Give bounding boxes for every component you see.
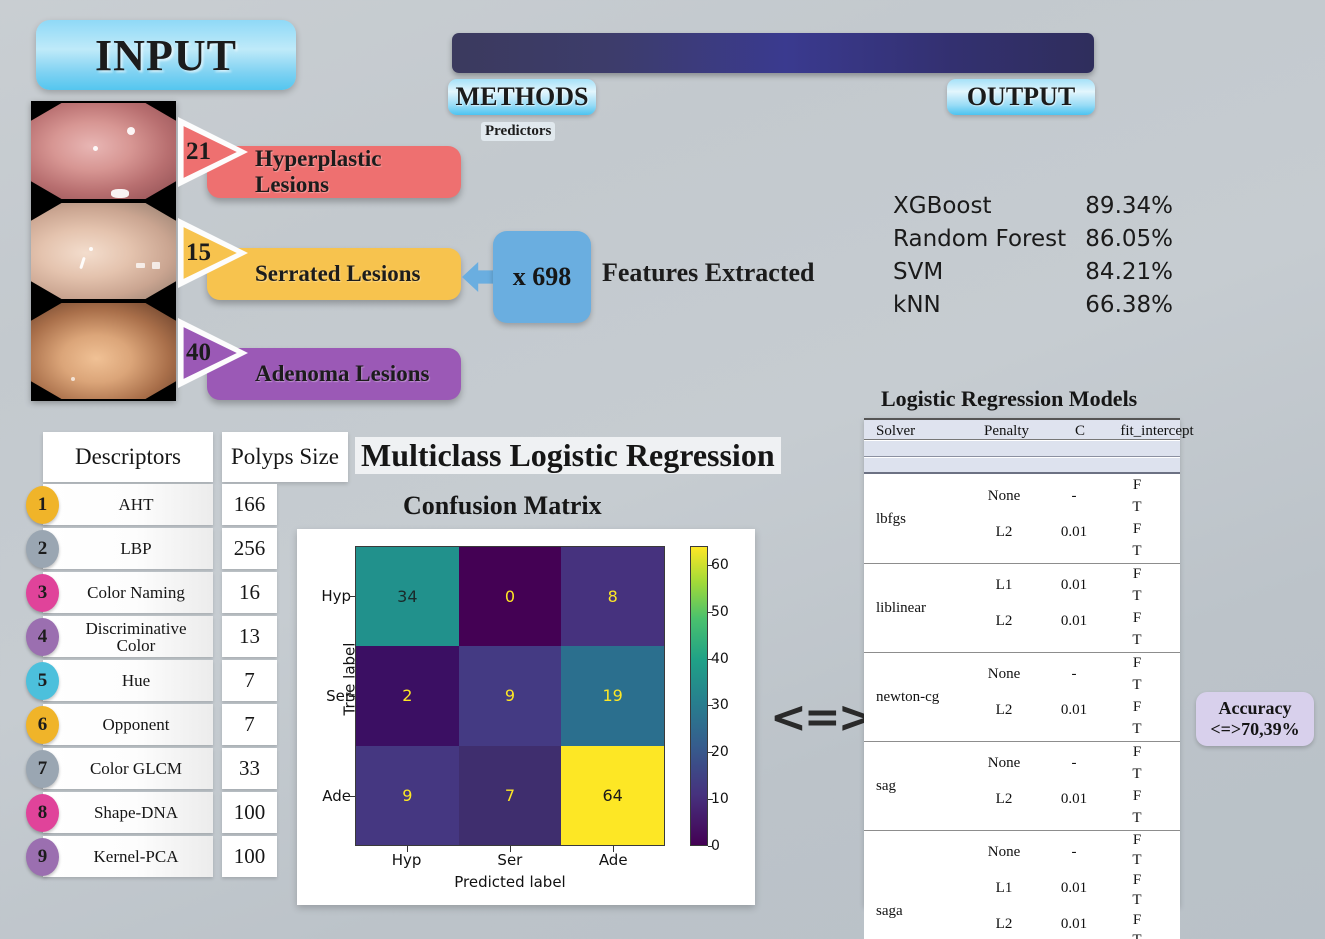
descriptor-index-badge: 8 (26, 794, 59, 832)
lr-c-value: - (1047, 755, 1101, 772)
colorbar-tick-label: 60 (711, 557, 729, 573)
lr-fit-intercept: T (1122, 810, 1152, 827)
descriptor-name: AHT (103, 496, 154, 513)
descriptor-name: DiscriminativeColor (69, 620, 186, 654)
descriptor-index-badge: 7 (26, 750, 59, 788)
methods-output-bar (452, 33, 1094, 73)
colorbar-tickmark (708, 565, 713, 566)
descriptors-header: Descriptors (43, 432, 213, 482)
descriptor-size: 13 (222, 616, 277, 657)
output-result-row: SVM84.21% (893, 256, 1173, 289)
endoscopy-image-hyperplastic (31, 101, 176, 201)
lr-c-value: 0.01 (1047, 880, 1101, 897)
lr-models-title: Logistic Regression Models (881, 386, 1137, 412)
output-result-row: kNN66.38% (893, 289, 1173, 322)
colorbar-tick-label: 10 (711, 791, 729, 807)
confusion-matrix-cell: 8 (561, 547, 664, 646)
colorbar-tick-label: 40 (711, 651, 729, 667)
lr-c-value: 0.01 (1047, 791, 1101, 808)
lesion-count-badge-adenoma: 40 (178, 318, 248, 388)
confusion-matrix-x-tick: Hyp (355, 851, 459, 869)
lr-c-value: - (1047, 844, 1101, 861)
predictors-label: Predictors (481, 122, 555, 141)
lr-fit-intercept: F (1122, 872, 1152, 889)
lr-penalty: L2 (959, 916, 1049, 933)
confusion-matrix-cell: 2 (356, 646, 459, 745)
output-tag-label: OUTPUT (967, 82, 1075, 112)
confusion-matrix-y-tickmark (349, 796, 355, 797)
lr-fit-intercept: T (1122, 852, 1152, 869)
lr-table-blank-row-1 (864, 441, 1180, 457)
output-result-row: Random Forest86.05% (893, 223, 1173, 256)
lr-fit-intercept: F (1122, 477, 1152, 494)
lr-c-value: - (1047, 488, 1101, 505)
descriptor-size: 7 (222, 704, 277, 745)
output-result-accuracy: 86.05% (1085, 223, 1173, 256)
output-tag: OUTPUT (947, 79, 1095, 115)
output-result-model: SVM (893, 256, 943, 289)
feature-multiplier-label: x 698 (513, 262, 572, 292)
lr-c-value: 0.01 (1047, 577, 1101, 594)
descriptor-size-value: 16 (239, 580, 260, 605)
descriptor-row: Opponent (43, 704, 213, 745)
lr-fit-intercept: F (1122, 832, 1152, 849)
output-results-list: XGBoost89.34%Random Forest86.05%SVM84.21… (893, 190, 1173, 322)
confusion-matrix-ylabel: True label (340, 643, 358, 716)
lr-penalty: None (959, 844, 1049, 861)
lr-table-group: lbfgsNone-L20.01FTFT (864, 476, 1180, 564)
lr-fit-intercept: T (1122, 677, 1152, 694)
lesion-count-hyperplastic: 21 (186, 138, 211, 166)
lr-c-value: 0.01 (1047, 613, 1101, 630)
descriptor-index-badge: 5 (26, 662, 59, 700)
confusion-matrix-cell: 7 (459, 746, 562, 845)
descriptor-index-badge: 9 (26, 838, 59, 876)
descriptors-header-label: Descriptors (75, 444, 181, 470)
multiclass-title: Multiclass Logistic Regression (355, 437, 781, 474)
lr-fit-intercept: F (1122, 655, 1152, 672)
lr-table-header-cell: Penalty (959, 420, 1054, 442)
confusion-matrix-y-tick: Hyp (305, 587, 351, 605)
colorbar-tick-label: 30 (711, 697, 729, 713)
descriptor-size-value: 256 (234, 536, 266, 561)
confusion-matrix-x-tickmark (613, 846, 614, 852)
descriptor-index-badge: 6 (26, 706, 59, 744)
confusion-matrix-cell: 34 (356, 547, 459, 646)
lr-solver-name: saga (876, 903, 903, 920)
lr-solver-name: lbfgs (876, 511, 906, 528)
methods-tag-label: METHODS (456, 82, 589, 112)
input-banner: INPUT (36, 20, 296, 90)
descriptor-row: AHT (43, 484, 213, 525)
accuracy-badge: Accuracy <=>70,39% (1196, 692, 1314, 746)
descriptor-row: LBP (43, 528, 213, 569)
lr-fit-intercept: T (1122, 588, 1152, 605)
polyps-size-header: Polyps Size (222, 432, 348, 482)
confusion-matrix-cell: 9 (459, 646, 562, 745)
confusion-matrix-x-tickmark (510, 846, 511, 852)
lr-table-header: SolverPenaltyCfit_intercept (864, 418, 1180, 440)
features-extracted-label: Features Extracted (602, 258, 815, 288)
lr-solver-name: sag (876, 778, 896, 795)
lr-table-header-cell: C (1060, 420, 1100, 442)
descriptor-size: 166 (222, 484, 277, 525)
endoscopy-image-strip (31, 101, 176, 401)
lr-fit-intercept: F (1122, 788, 1152, 805)
descriptor-name: Opponent (86, 716, 169, 733)
descriptor-size-value: 166 (234, 492, 266, 517)
lr-fit-intercept: T (1122, 543, 1152, 560)
confusion-matrix-y-tickmark (349, 596, 355, 597)
colorbar-tickmark (708, 705, 713, 706)
lr-c-value: 0.01 (1047, 916, 1101, 933)
descriptor-row: Shape-DNA (43, 792, 213, 833)
colorbar (690, 546, 708, 846)
confusion-matrix-x-tickmark (407, 846, 408, 852)
lr-models-table: SolverPenaltyCfit_intercept lbfgsNone-L2… (864, 418, 1180, 906)
lesion-count-adenoma: 40 (186, 339, 211, 367)
lesion-count-badge-hyperplastic: 21 (178, 117, 248, 187)
colorbar-tickmark (708, 799, 713, 800)
confusion-matrix-grid: 340829199764 (355, 546, 665, 846)
descriptor-size: 100 (222, 792, 277, 833)
figure-canvas: INPUT METHODS OUTPUT Predictors Hyperpla… (0, 0, 1325, 939)
descriptor-size: 7 (222, 660, 277, 701)
colorbar-tick-label: 20 (711, 744, 729, 760)
lr-fit-intercept: T (1122, 932, 1152, 939)
confusion-matrix-x-tick: Ser (458, 851, 562, 869)
lr-penalty: None (959, 755, 1049, 772)
output-result-model: XGBoost (893, 190, 992, 223)
descriptor-row: Color Naming (43, 572, 213, 613)
lr-fit-intercept: F (1122, 521, 1152, 538)
lr-fit-intercept: F (1122, 699, 1152, 716)
confusion-matrix-cell: 64 (561, 746, 664, 845)
lr-c-value: 0.01 (1047, 524, 1101, 541)
lr-fit-intercept: T (1122, 721, 1152, 738)
colorbar-tickmark (708, 612, 713, 613)
lr-c-value: 0.01 (1047, 702, 1101, 719)
lr-solver-name: newton-cg (876, 689, 939, 706)
lr-table-group: sagNone-L20.01FTFT (864, 743, 1180, 831)
lr-penalty: L2 (959, 791, 1049, 808)
colorbar-tickmark (708, 659, 713, 660)
colorbar-tick-label: 50 (711, 604, 729, 620)
lr-fit-intercept: T (1122, 892, 1152, 909)
confusion-matrix-title: Confusion Matrix (403, 491, 602, 521)
descriptor-name: Shape-DNA (78, 804, 178, 821)
lr-penalty: None (959, 666, 1049, 683)
descriptor-name: Hue (106, 672, 150, 689)
descriptor-row: Kernel-PCA (43, 836, 213, 877)
descriptor-index-badge: 2 (26, 530, 59, 568)
lr-table-group: sagaNone-L10.01L20.01elasticnet0.01FTFTF… (864, 832, 1180, 939)
descriptor-row: DiscriminativeColor (43, 616, 213, 657)
polyps-size-header-label: Polyps Size (231, 444, 339, 470)
descriptor-size-value: 33 (239, 756, 260, 781)
colorbar-tickmark (708, 846, 713, 847)
equivalence-arrow-icon: <=> (770, 692, 872, 743)
lr-table-header-cell: Solver (876, 420, 956, 442)
confusion-matrix-xlabel: Predicted label (355, 873, 665, 891)
lr-fit-intercept: F (1122, 566, 1152, 583)
output-result-model: Random Forest (893, 223, 1066, 256)
lr-table-group: liblinearL10.01L20.01FTFT (864, 565, 1180, 653)
lr-fit-intercept: F (1122, 744, 1152, 761)
lr-solver-name: liblinear (876, 600, 926, 617)
lr-penalty: L1 (959, 577, 1049, 594)
methods-tag: METHODS (448, 79, 596, 115)
output-result-accuracy: 66.38% (1085, 289, 1173, 322)
lr-penalty: None (959, 488, 1049, 505)
lr-table-group: newton-cgNone-L20.01FTFT (864, 654, 1180, 742)
descriptor-name: Color Naming (71, 584, 185, 601)
colorbar-tickmark (708, 752, 713, 753)
lr-fit-intercept: F (1122, 912, 1152, 929)
descriptor-size-value: 13 (239, 624, 260, 649)
confusion-matrix-cell: 19 (561, 646, 664, 745)
lr-c-value: - (1047, 666, 1101, 683)
feature-multiplier-box: x 698 (493, 231, 591, 323)
endoscopy-image-adenoma (31, 301, 176, 401)
confusion-matrix-cell: 9 (356, 746, 459, 845)
descriptor-size-value: 100 (234, 800, 266, 825)
descriptor-size: 256 (222, 528, 277, 569)
confusion-matrix-y-tick: Ade (305, 787, 351, 805)
accuracy-badge-label: Accuracy (1219, 698, 1292, 719)
descriptor-size-value: 100 (234, 844, 266, 869)
lr-table-blank-row-2 (864, 458, 1180, 474)
descriptor-row: Color GLCM (43, 748, 213, 789)
lesion-count-badge-serrated: 15 (178, 218, 248, 288)
descriptor-size: 33 (222, 748, 277, 789)
lr-fit-intercept: T (1122, 632, 1152, 649)
lr-table-header-cell: fit_intercept (1102, 420, 1212, 442)
confusion-matrix-x-tick: Ade (561, 851, 665, 869)
lr-penalty: L2 (959, 613, 1049, 630)
confusion-matrix-panel: 340829199764 HypSerAde HypSerAde True la… (297, 529, 755, 905)
descriptor-index-badge: 4 (26, 618, 59, 656)
lr-penalty: L1 (959, 880, 1049, 897)
lr-fit-intercept: T (1122, 766, 1152, 783)
endoscopy-image-serrated (31, 201, 176, 301)
descriptor-size: 16 (222, 572, 277, 613)
descriptor-index-badge: 3 (26, 574, 59, 612)
descriptor-size-value: 7 (244, 712, 255, 737)
descriptor-size-value: 7 (244, 668, 255, 693)
descriptor-name: Kernel-PCA (78, 848, 179, 865)
lr-fit-intercept: T (1122, 499, 1152, 516)
lr-fit-intercept: F (1122, 610, 1152, 627)
descriptor-index-badge: 1 (26, 486, 59, 524)
accuracy-badge-value: <=>70,39% (1210, 719, 1299, 740)
confusion-matrix-cell: 0 (459, 547, 562, 646)
descriptor-name: Color GLCM (74, 760, 182, 777)
descriptor-size: 100 (222, 836, 277, 877)
descriptor-name: LBP (104, 540, 151, 557)
output-result-model: kNN (893, 289, 941, 322)
output-result-accuracy: 89.34% (1085, 190, 1173, 223)
lesion-count-serrated: 15 (186, 239, 211, 267)
lr-penalty: L2 (959, 524, 1049, 541)
output-result-row: XGBoost89.34% (893, 190, 1173, 223)
input-banner-label: INPUT (95, 30, 237, 81)
lr-penalty: L2 (959, 702, 1049, 719)
descriptor-row: Hue (43, 660, 213, 701)
output-result-accuracy: 84.21% (1085, 256, 1173, 289)
